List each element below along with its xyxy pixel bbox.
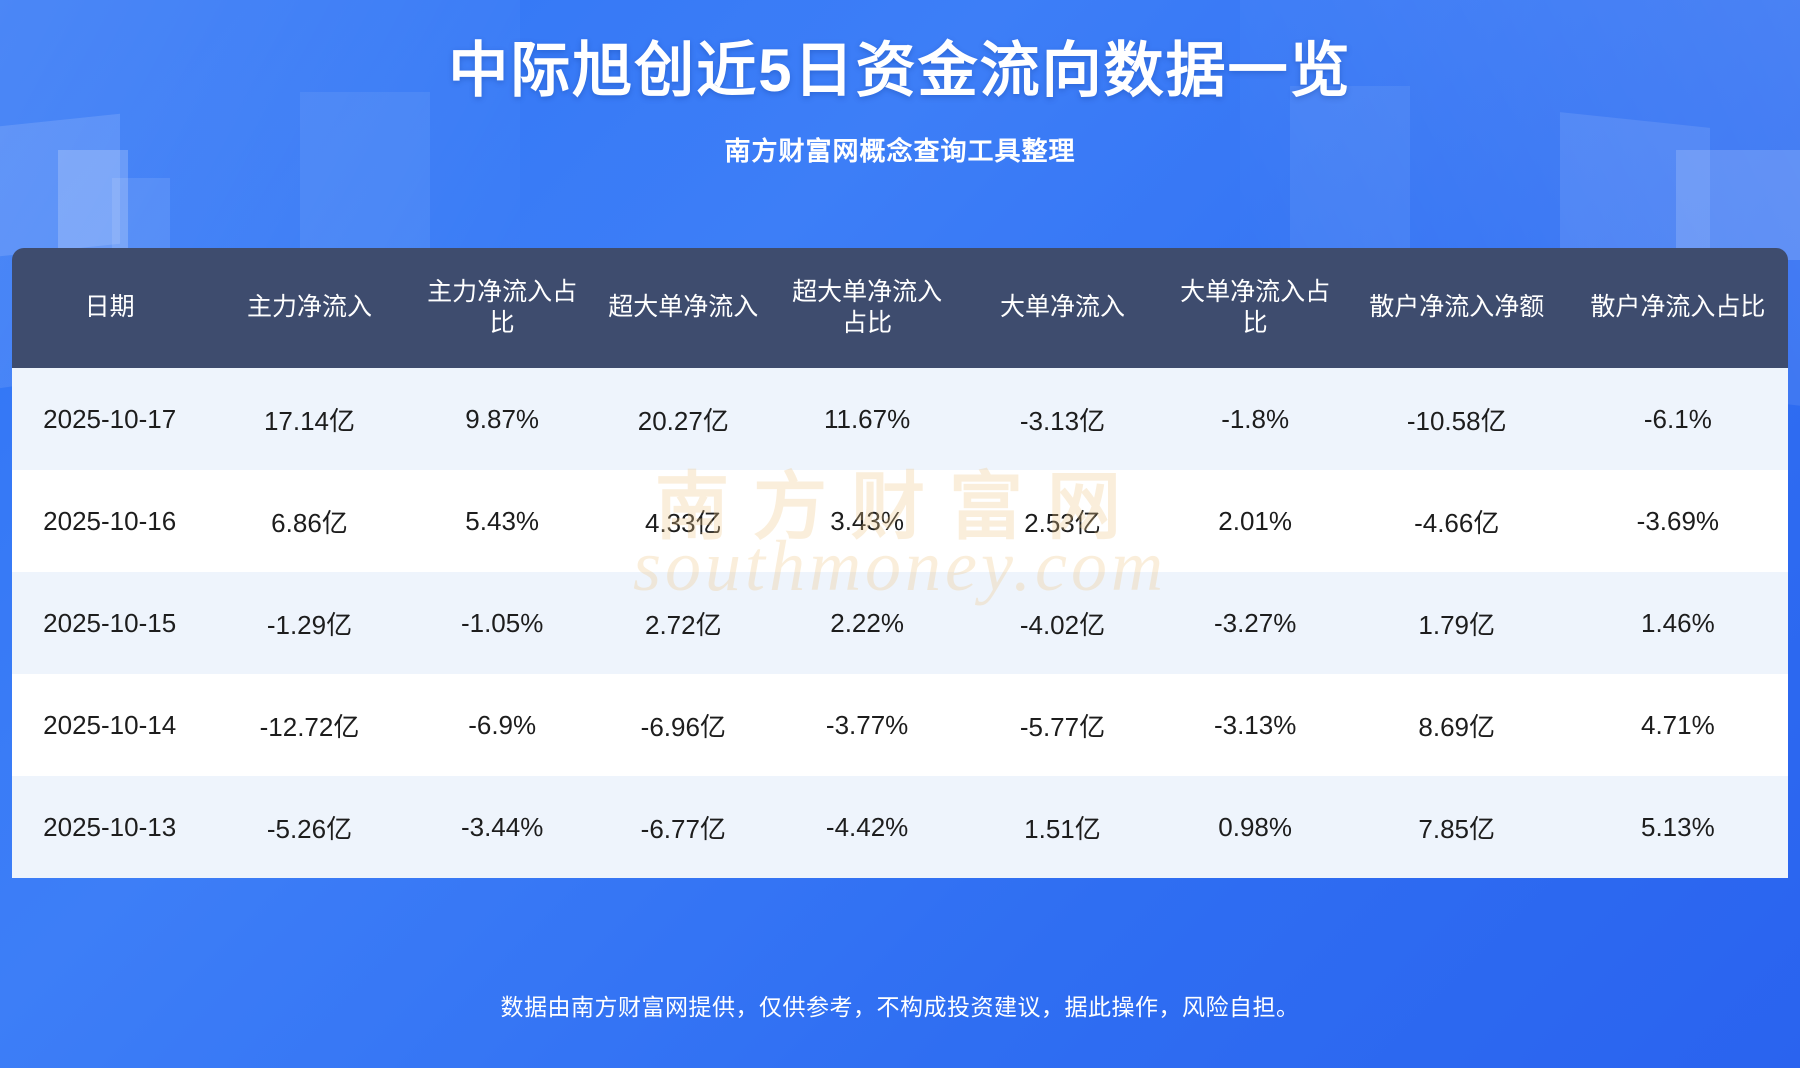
cell-lg-net: 2.53亿 bbox=[960, 470, 1164, 572]
column-header-lg-net[interactable]: 大单净流入 bbox=[960, 248, 1164, 368]
page-subtitle: 南方财富网概念查询工具整理 bbox=[0, 131, 1800, 168]
cell-lg-net: -4.02亿 bbox=[960, 572, 1164, 674]
column-header-main-pct[interactable]: 主力净流入占比 bbox=[412, 248, 593, 368]
cell-lg-pct: -3.13% bbox=[1165, 674, 1346, 776]
cell-main-pct: -3.44% bbox=[412, 776, 593, 878]
cell-main-pct: -6.9% bbox=[412, 674, 593, 776]
cell-xl-net: -6.77亿 bbox=[593, 776, 774, 878]
cell-xl-net: -6.96亿 bbox=[593, 674, 774, 776]
column-header-retail-net[interactable]: 散户净流入净额 bbox=[1346, 248, 1568, 368]
page-title: 中际旭创近5日资金流向数据一览 bbox=[0, 36, 1800, 105]
cell-retail-net: 8.69亿 bbox=[1346, 674, 1568, 776]
cell-retail-net: -4.66亿 bbox=[1346, 470, 1568, 572]
cell-xl-pct: -3.77% bbox=[774, 674, 960, 776]
table-row: 2025-10-15 -1.29亿 -1.05% 2.72亿 2.22% -4.… bbox=[12, 572, 1788, 674]
cell-lg-pct: 0.98% bbox=[1165, 776, 1346, 878]
column-header-retail-pct[interactable]: 散户净流入占比 bbox=[1568, 248, 1788, 368]
cell-xl-pct: -4.42% bbox=[774, 776, 960, 878]
cell-main-net: -12.72亿 bbox=[207, 674, 411, 776]
cell-main-net: -1.29亿 bbox=[207, 572, 411, 674]
table-row: 2025-10-17 17.14亿 9.87% 20.27亿 11.67% -3… bbox=[12, 368, 1788, 470]
cell-retail-net: -10.58亿 bbox=[1346, 368, 1568, 470]
cell-xl-net: 4.33亿 bbox=[593, 470, 774, 572]
cell-date: 2025-10-17 bbox=[12, 368, 207, 470]
cell-xl-net: 2.72亿 bbox=[593, 572, 774, 674]
fund-flow-table: 日期 主力净流入 主力净流入占比 超大单净流入 超大单净流入占比 大单净流入 大… bbox=[12, 248, 1788, 878]
cell-main-pct: 5.43% bbox=[412, 470, 593, 572]
column-header-xl-pct[interactable]: 超大单净流入占比 bbox=[774, 248, 960, 368]
column-header-main-net[interactable]: 主力净流入 bbox=[207, 248, 411, 368]
page-root: 中际旭创近5日资金流向数据一览 南方财富网概念查询工具整理 南方财富网 sout… bbox=[0, 0, 1800, 1068]
cell-lg-net: -3.13亿 bbox=[960, 368, 1164, 470]
cell-main-pct: 9.87% bbox=[412, 368, 593, 470]
cell-retail-pct: 5.13% bbox=[1568, 776, 1788, 878]
page-header: 中际旭创近5日资金流向数据一览 南方财富网概念查询工具整理 bbox=[0, 0, 1800, 168]
cell-xl-pct: 3.43% bbox=[774, 470, 960, 572]
table-body: 2025-10-17 17.14亿 9.87% 20.27亿 11.67% -3… bbox=[12, 368, 1788, 878]
cell-main-net: 17.14亿 bbox=[207, 368, 411, 470]
cell-main-net: 6.86亿 bbox=[207, 470, 411, 572]
cell-date: 2025-10-13 bbox=[12, 776, 207, 878]
cell-lg-pct: -1.8% bbox=[1165, 368, 1346, 470]
cell-lg-net: -5.77亿 bbox=[960, 674, 1164, 776]
table-row: 2025-10-14 -12.72亿 -6.9% -6.96亿 -3.77% -… bbox=[12, 674, 1788, 776]
cell-retail-pct: 4.71% bbox=[1568, 674, 1788, 776]
table-row: 2025-10-16 6.86亿 5.43% 4.33亿 3.43% 2.53亿… bbox=[12, 470, 1788, 572]
fund-flow-table-container: 日期 主力净流入 主力净流入占比 超大单净流入 超大单净流入占比 大单净流入 大… bbox=[12, 248, 1788, 878]
table-header-row: 日期 主力净流入 主力净流入占比 超大单净流入 超大单净流入占比 大单净流入 大… bbox=[12, 248, 1788, 368]
cell-retail-net: 7.85亿 bbox=[1346, 776, 1568, 878]
cell-date: 2025-10-16 bbox=[12, 470, 207, 572]
cell-lg-net: 1.51亿 bbox=[960, 776, 1164, 878]
cell-retail-pct: -6.1% bbox=[1568, 368, 1788, 470]
cell-xl-net: 20.27亿 bbox=[593, 368, 774, 470]
cell-xl-pct: 2.22% bbox=[774, 572, 960, 674]
table-row: 2025-10-13 -5.26亿 -3.44% -6.77亿 -4.42% 1… bbox=[12, 776, 1788, 878]
cell-main-pct: -1.05% bbox=[412, 572, 593, 674]
column-header-lg-pct[interactable]: 大单净流入占比 bbox=[1165, 248, 1346, 368]
cell-lg-pct: -3.27% bbox=[1165, 572, 1346, 674]
cell-date: 2025-10-14 bbox=[12, 674, 207, 776]
cell-retail-net: 1.79亿 bbox=[1346, 572, 1568, 674]
cell-xl-pct: 11.67% bbox=[774, 368, 960, 470]
table-header: 日期 主力净流入 主力净流入占比 超大单净流入 超大单净流入占比 大单净流入 大… bbox=[12, 248, 1788, 368]
column-header-date[interactable]: 日期 bbox=[12, 248, 207, 368]
column-header-xl-net[interactable]: 超大单净流入 bbox=[593, 248, 774, 368]
footer-disclaimer: 数据由南方财富网提供，仅供参考，不构成投资建议，据此操作，风险自担。 bbox=[0, 988, 1800, 1022]
cell-lg-pct: 2.01% bbox=[1165, 470, 1346, 572]
cell-date: 2025-10-15 bbox=[12, 572, 207, 674]
cell-main-net: -5.26亿 bbox=[207, 776, 411, 878]
cell-retail-pct: -3.69% bbox=[1568, 470, 1788, 572]
cell-retail-pct: 1.46% bbox=[1568, 572, 1788, 674]
